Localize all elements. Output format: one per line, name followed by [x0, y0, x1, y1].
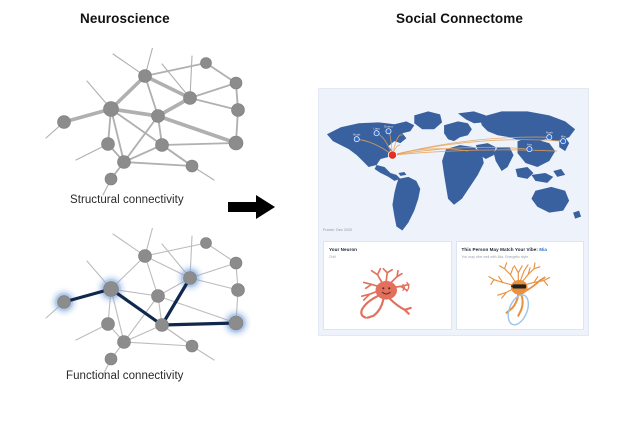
svg-text:Liam: Liam: [373, 127, 380, 131]
world-map-svg: NoahLiamEmmaAvaNoahMia: [319, 89, 588, 241]
vibe-cards-row: Your Neuron Chill This Person May Match …: [323, 241, 584, 330]
neuron-coral-smiling-icon: [324, 259, 451, 329]
your-neuron-illustration: [324, 259, 451, 329]
flow-arrow-icon: [228, 194, 276, 220]
svg-text:Noah: Noah: [546, 131, 553, 135]
caption-structural-connectivity: Structural connectivity: [70, 194, 184, 206]
social-connectome-app-panel: NoahLiamEmmaAvaNoahMia Frame: Dec 2020 Y…: [318, 88, 589, 336]
match-neuron-illustration: [457, 259, 584, 329]
map-frame-label: Frame: Dec 2020: [323, 228, 352, 232]
structural-graph-svg: [40, 48, 265, 198]
match-person-name: Mia: [539, 247, 547, 252]
your-neuron-card-title-text: Your Neuron: [329, 247, 357, 252]
heading-neuroscience: Neuroscience: [80, 11, 170, 26]
functional-connectivity-graph: [40, 228, 265, 378]
svg-text:Ava: Ava: [527, 143, 532, 147]
structural-connectivity-graph: [40, 48, 265, 198]
caption-functional-connectivity: Functional connectivity: [66, 370, 184, 382]
match-person-card[interactable]: This Person May Match Your Vibe: Mia You…: [456, 241, 585, 330]
your-neuron-card-title: Your Neuron: [329, 247, 446, 253]
svg-text:Noah: Noah: [353, 133, 360, 137]
svg-text:Emma: Emma: [384, 125, 393, 129]
functional-graph-svg: [40, 228, 265, 378]
neuron-orange-sunglasses-icon: [457, 259, 584, 329]
match-person-card-head: This Person May Match Your Vibe: Mia You…: [457, 242, 584, 259]
your-neuron-card[interactable]: Your Neuron Chill: [323, 241, 452, 330]
heading-social-connectome: Social Connectome: [396, 11, 523, 26]
world-map-region[interactable]: NoahLiamEmmaAvaNoahMia: [319, 89, 588, 241]
match-person-card-title: This Person May Match Your Vibe: Mia: [462, 247, 579, 253]
match-person-card-title-text: This Person May Match Your Vibe:: [462, 247, 538, 252]
svg-text:Mia: Mia: [561, 135, 566, 139]
your-neuron-card-head: Your Neuron Chill: [324, 242, 451, 259]
